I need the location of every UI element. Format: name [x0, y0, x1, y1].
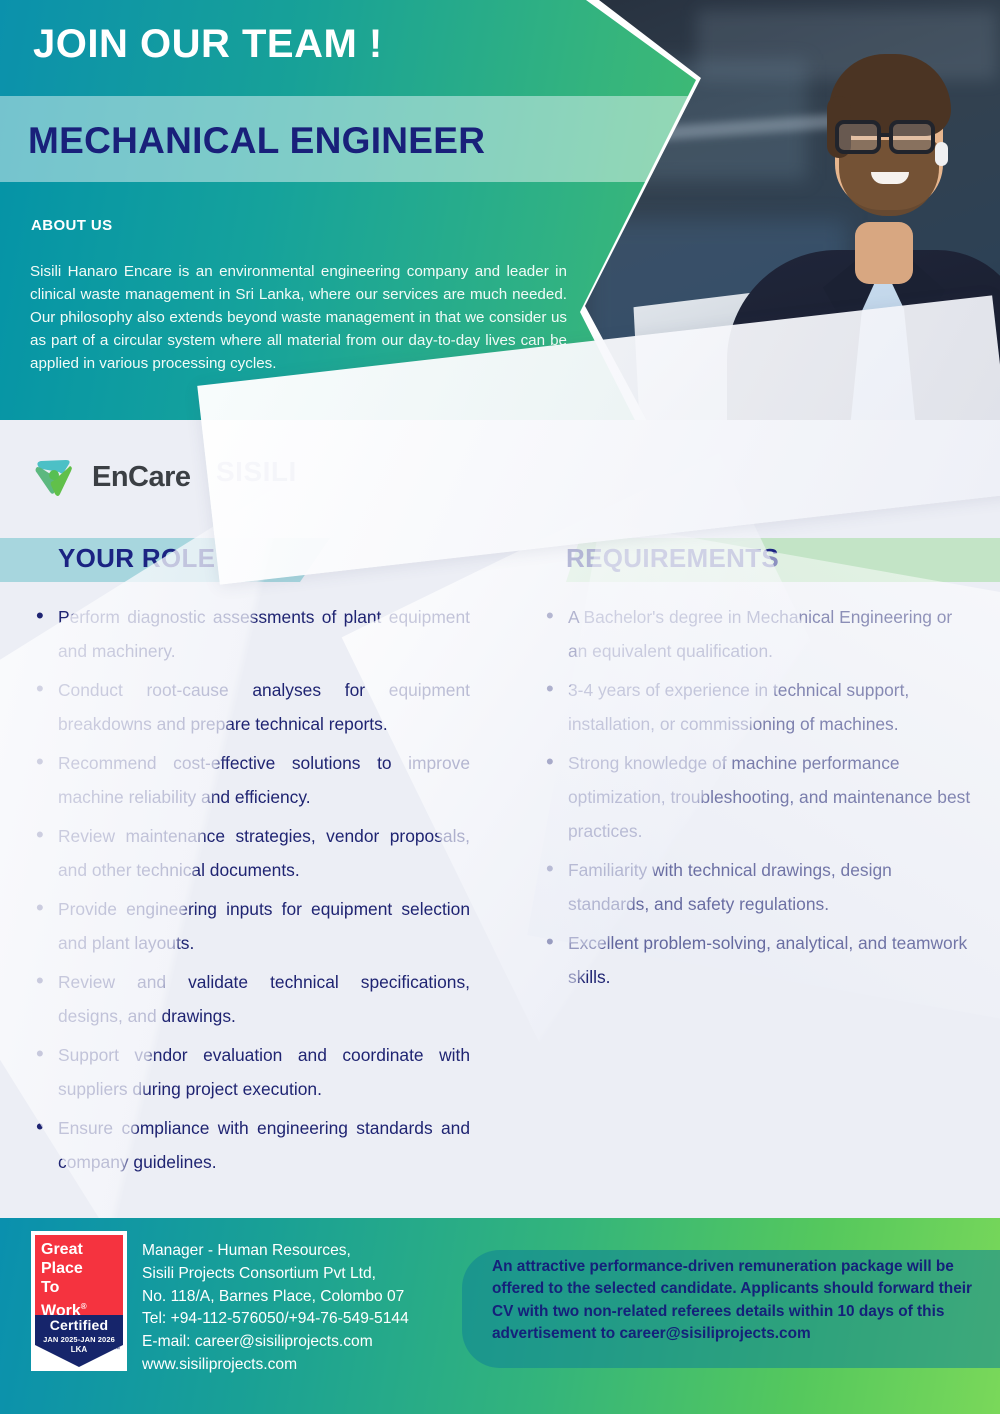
list-item: Provide engineering inputs for equipment…	[30, 892, 470, 960]
list-item: Perform diagnostic assessments of plant …	[30, 600, 470, 668]
contact-details: Manager - Human Resources, Sisili Projec…	[142, 1240, 472, 1377]
remuneration-text: An attractive performance-driven remuner…	[492, 1256, 992, 1346]
person-neck	[855, 222, 913, 284]
join-our-team-heading: JOIN OUR TEAM !	[33, 22, 383, 67]
job-title: MECHANICAL ENGINEER	[28, 120, 485, 162]
list-item: A Bachelor's degree in Mechanical Engine…	[540, 600, 972, 668]
badge-country: LKA	[35, 1344, 123, 1354]
earbud-icon	[935, 142, 948, 166]
list-item: Ensure compliance with engineering stand…	[30, 1111, 470, 1179]
contact-line: No. 118/A, Barnes Place, Colombo 07	[142, 1286, 472, 1309]
list-item: Review maintenance strategies, vendor pr…	[30, 819, 470, 887]
badge-red-panel: Great Place To Work®	[35, 1235, 123, 1315]
contact-email-line[interactable]: E-mail: career@sisiliprojects.com	[142, 1331, 472, 1354]
person-smile	[871, 172, 909, 184]
requirements-heading: REQUIREMENTS	[566, 543, 779, 574]
encare-logo: EnCare	[30, 452, 191, 502]
requirements-column: A Bachelor's degree in Mechanical Engine…	[540, 600, 972, 999]
requirements-list: A Bachelor's degree in Mechanical Engine…	[540, 600, 972, 994]
list-item: Support vendor evaluation and coordinate…	[30, 1038, 470, 1106]
badge-dates: JAN 2025-JAN 2026	[35, 1333, 123, 1344]
contact-line: Tel: +94-112-576050/+94-76-549-5144	[142, 1308, 472, 1331]
eyeglasses-bridge	[879, 133, 893, 137]
your-role-list: Perform diagnostic assessments of plant …	[30, 600, 470, 1179]
encare-logo-text: EnCare	[92, 461, 191, 494]
registered-mark-icon: ®	[81, 1302, 87, 1311]
badge-navy-panel: Certified JAN 2025-JAN 2026 LKA	[35, 1315, 123, 1367]
contact-website-line[interactable]: www.sisiliprojects.com	[142, 1354, 472, 1377]
list-item: 3-4 years of experience in technical sup…	[540, 673, 972, 741]
contact-line: Manager - Human Resources,	[142, 1240, 472, 1263]
job-advertisement-poster: JOIN OUR TEAM ! MECHANICAL ENGINEER ABOU…	[0, 0, 1000, 1414]
badge-certified: Certified	[35, 1315, 123, 1333]
badge-line-2: Place	[41, 1259, 123, 1278]
list-item: Excellent problem-solving, analytical, a…	[540, 926, 972, 994]
list-item: Review and validate technical specificat…	[30, 965, 470, 1033]
encare-triangle-icon	[30, 452, 80, 502]
list-item: Familiarity with technical drawings, des…	[540, 853, 972, 921]
contact-line: Sisili Projects Consortium Pvt Ltd,	[142, 1263, 472, 1286]
badge-line-1: Great	[41, 1240, 123, 1259]
your-role-heading: YOUR ROLE	[58, 543, 215, 574]
eyeglasses-left-lens	[835, 120, 881, 154]
list-item: Recommend cost-effective solutions to im…	[30, 746, 470, 814]
badge-line-3: To	[41, 1278, 123, 1297]
list-item: Conduct root-cause analyses for equipmen…	[30, 673, 470, 741]
list-item: Strong knowledge of machine performance …	[540, 746, 972, 848]
your-role-column: Perform diagnostic assessments of plant …	[30, 600, 470, 1184]
about-us-label: ABOUT US	[31, 217, 113, 234]
eyeglasses-right-lens	[889, 120, 935, 154]
trademark-icon: ™	[114, 1347, 120, 1353]
great-place-to-work-badge: Great Place To Work® Certified JAN 2025-…	[31, 1231, 127, 1371]
